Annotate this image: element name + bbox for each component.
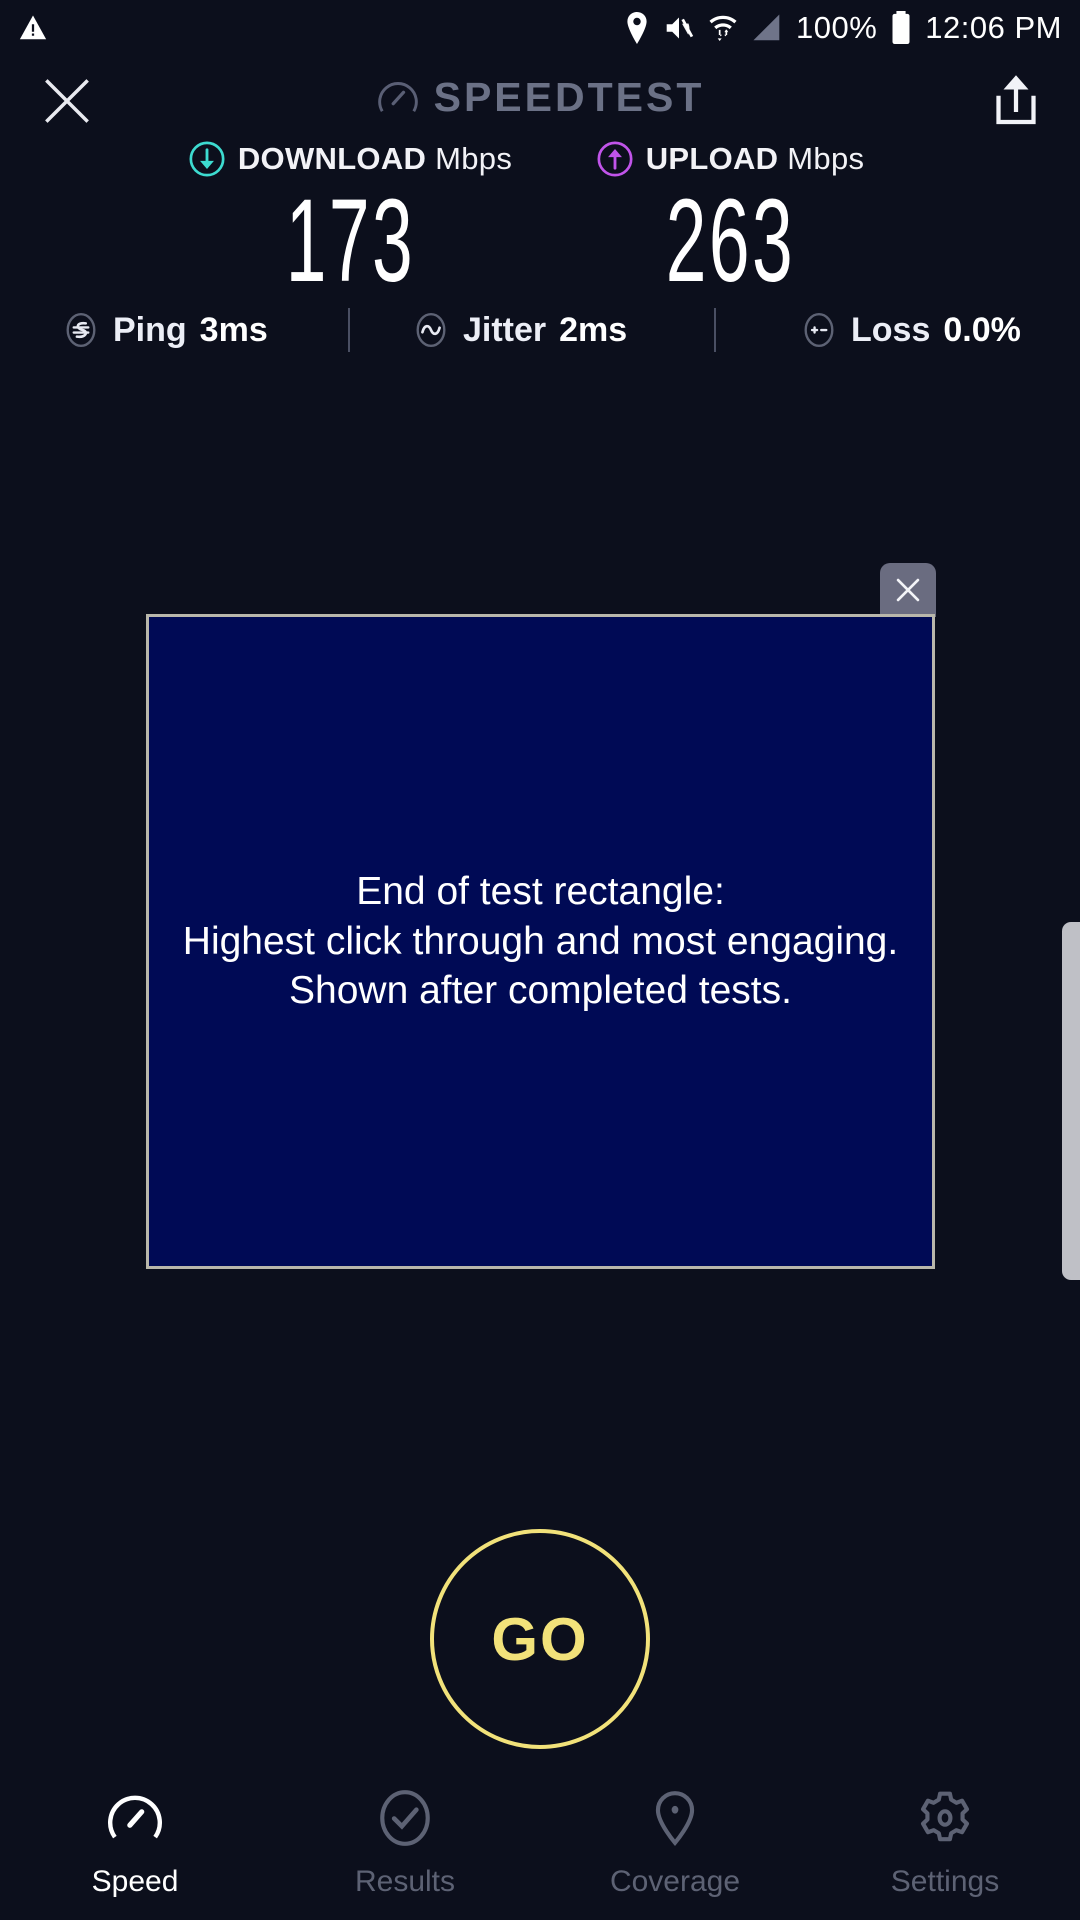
advertisement-banner[interactable]: End of test rectangle: Highest click thr… xyxy=(146,614,935,1269)
status-bar-left xyxy=(18,13,48,43)
ad-line-2: Highest click through and most engaging. xyxy=(183,917,898,967)
jitter-icon xyxy=(412,311,450,349)
upload-metric-header: UPLOAD Mbps xyxy=(596,140,865,178)
location-pin-icon xyxy=(624,12,650,44)
upload-metric: UPLOAD Mbps 263 xyxy=(540,140,920,300)
vertical-scrollbar[interactable] xyxy=(1062,922,1080,1280)
jitter-value: 2ms xyxy=(559,311,627,350)
jitter-label: Jitter xyxy=(463,311,546,350)
ad-line-3: Shown after completed tests. xyxy=(183,966,898,1016)
loss-value: 0.0% xyxy=(943,311,1021,350)
speedtest-app-screen: 100% 12:06 PM SPEEDTEST xyxy=(0,0,1080,1920)
nav-label-results: Results xyxy=(355,1865,455,1899)
nav-item-settings[interactable]: Settings xyxy=(810,1760,1080,1920)
brand-logo: SPEEDTEST xyxy=(0,74,1080,121)
gear-icon xyxy=(914,1787,976,1849)
download-arrow-icon xyxy=(188,140,226,178)
nav-label-settings: Settings xyxy=(891,1865,999,1899)
nav-label-speed: Speed xyxy=(92,1865,179,1899)
location-pin-icon xyxy=(644,1787,706,1849)
go-button[interactable]: GO xyxy=(430,1529,650,1749)
upload-arrow-icon xyxy=(596,140,634,178)
share-icon xyxy=(988,72,1044,132)
ad-text: End of test rectangle: Highest click thr… xyxy=(173,867,908,1017)
ping-value: 3ms xyxy=(200,311,268,350)
mute-icon xyxy=(663,13,695,43)
test-results-panel: DOWNLOAD Mbps 173 UPLOAD Mbps 263 xyxy=(0,140,1080,300)
nav-item-coverage[interactable]: Coverage xyxy=(540,1760,810,1920)
loss-stat: Loss 0.0% xyxy=(800,311,1021,350)
download-metric: DOWNLOAD Mbps 173 xyxy=(160,140,540,300)
check-circle-icon xyxy=(374,1787,436,1849)
upload-value: 263 xyxy=(665,182,795,300)
ping-icon xyxy=(62,311,100,349)
nav-item-results[interactable]: Results xyxy=(270,1760,540,1920)
upload-metric-label: UPLOAD Mbps xyxy=(646,141,865,177)
nav-label-coverage: Coverage xyxy=(610,1865,740,1899)
battery-icon xyxy=(890,11,912,45)
go-button-label: GO xyxy=(491,1605,588,1674)
nav-item-speed[interactable]: Speed xyxy=(0,1760,270,1920)
stats-divider xyxy=(348,308,350,352)
speedometer-icon xyxy=(104,1787,166,1849)
close-icon xyxy=(891,573,925,607)
brand-title: SPEEDTEST xyxy=(434,74,705,121)
ad-line-1: End of test rectangle: xyxy=(183,867,898,917)
app-header: SPEEDTEST xyxy=(0,56,1080,148)
status-bar-right: 100% 12:06 PM xyxy=(624,10,1062,46)
clock-label: 12:06 PM xyxy=(925,10,1062,46)
ad-close-button[interactable] xyxy=(880,563,936,617)
loss-icon xyxy=(800,311,838,349)
wifi-icon xyxy=(708,12,738,44)
download-metric-header: DOWNLOAD Mbps xyxy=(188,140,512,178)
share-button[interactable] xyxy=(988,72,1044,132)
bottom-navigation-bar: Speed Results Coverage Settings xyxy=(0,1760,1080,1920)
cell-signal-icon xyxy=(751,13,783,43)
ping-label: Ping xyxy=(113,311,187,350)
system-status-bar: 100% 12:06 PM xyxy=(0,0,1080,56)
speedometer-icon xyxy=(376,76,420,120)
battery-percent-label: 100% xyxy=(796,10,877,46)
download-value: 173 xyxy=(285,182,415,300)
download-metric-label: DOWNLOAD Mbps xyxy=(238,141,512,177)
jitter-stat: Jitter 2ms xyxy=(412,311,627,350)
warning-triangle-icon xyxy=(18,13,48,43)
stats-divider xyxy=(714,308,716,352)
speed-metrics-row: DOWNLOAD Mbps 173 UPLOAD Mbps 263 xyxy=(0,140,1080,300)
network-stats-row: Ping 3ms Jitter 2ms Loss 0.0% xyxy=(0,300,1080,360)
ping-stat: Ping 3ms xyxy=(62,311,268,350)
loss-label: Loss xyxy=(851,311,930,350)
